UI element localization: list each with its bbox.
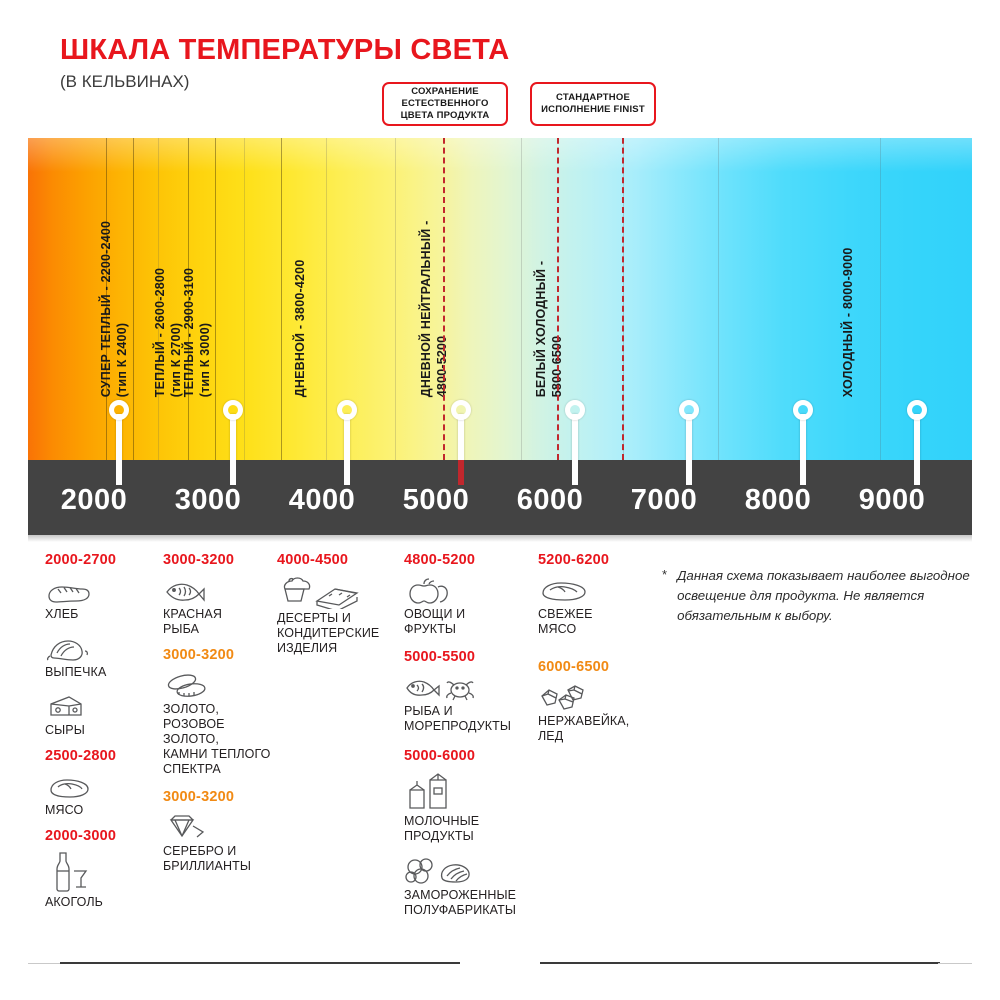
legend-group: 6000-6500 НЕРЖАВЕЙКА, ЛЕД bbox=[538, 659, 658, 744]
scale-label-3000: 3000 bbox=[175, 484, 242, 517]
list-item: СВЕЖЕЕ МЯСО bbox=[538, 573, 658, 637]
callout-finist-standard: СТАНДАРТНОЕ ИСПОЛНЕНИЕ FINIST bbox=[530, 82, 656, 126]
alcohol-icon bbox=[45, 849, 157, 893]
legend-range: 3000-3200 bbox=[163, 789, 283, 805]
scale-label-5000: 5000 bbox=[403, 484, 470, 517]
legend-range: 6000-6500 bbox=[538, 659, 658, 675]
footnote-text: Данная схема показывает наиболее выгодно… bbox=[677, 566, 980, 626]
legend-group: 5000-6000 МОЛОЧНЫЕ ПРОДУКТЫ ЗАМОРОЖЕННЫЕ… bbox=[404, 748, 538, 918]
footnote-star: * bbox=[662, 566, 667, 626]
page-title: ШКАЛА ТЕМПЕРАТУРЫ СВЕТА bbox=[60, 36, 509, 65]
legend-group: 2000-2700 ХЛЕБ ВЫПЕЧКА СЫРЫ bbox=[45, 552, 157, 738]
callout-natural-color: СОХРАНЕНИЕ ЕСТЕСТВЕННОГО ЦВЕТА ПРОДУКТА bbox=[382, 82, 508, 126]
spectrum-gradient bbox=[28, 138, 972, 460]
scale-tick-8000 bbox=[800, 459, 806, 485]
legend-group: 4800-5200 ОВОЩИ И ФРУКТЫ bbox=[404, 552, 538, 637]
legend-item-label: РЫБА И МОРЕПРОДУКТЫ bbox=[404, 704, 538, 734]
list-item: ВЫПЕЧКА bbox=[45, 631, 157, 680]
legend-range: 5000-6000 bbox=[404, 748, 538, 764]
legend-group: 5000-5500 РЫБА И МОРЕПРОДУКТЫ bbox=[404, 649, 538, 734]
footnote: * Данная схема показывает наиболее выгод… bbox=[662, 566, 980, 626]
band-separator bbox=[521, 138, 522, 460]
legend-range: 2500-2800 bbox=[45, 748, 157, 764]
croissant-icon bbox=[45, 631, 157, 663]
band-label-super-warm: СУПЕР ТЕПЛЫЙ - 2200-2400 bbox=[99, 221, 114, 397]
list-item: ЗОЛОТО, РОЗОВОЕ ЗОЛОТО, КАМНИ ТЕПЛОГО СП… bbox=[163, 668, 283, 777]
legend-range: 4800-5200 bbox=[404, 552, 538, 568]
scale-label-7000: 7000 bbox=[631, 484, 698, 517]
bottom-rule-fade-left bbox=[28, 963, 62, 964]
list-item: АКОГОЛЬ bbox=[45, 849, 157, 910]
legend-range: 5000-5500 bbox=[404, 649, 538, 665]
scale-label-6000: 6000 bbox=[517, 484, 584, 517]
diamond-icon bbox=[163, 810, 283, 842]
band-sublabel-super-warm: (тип К 2400) bbox=[115, 323, 130, 397]
scale-tick-3000 bbox=[230, 459, 236, 485]
list-item: РЫБА И МОРЕПРОДУКТЫ bbox=[404, 670, 538, 734]
legend-item-label: ЗАМОРОЖЕННЫЕ ПОЛУФАБРИКАТЫ bbox=[404, 888, 538, 918]
band-label-daylight-neutral: ДНЕВНОЙ НЕЙТРАЛЬНЫЙ - bbox=[419, 221, 434, 398]
list-item: ЗАМОРОЖЕННЫЕ ПОЛУФАБРИКАТЫ bbox=[404, 854, 538, 918]
scale-tick-2000 bbox=[116, 459, 122, 485]
dairy-icon bbox=[404, 772, 538, 812]
legend-item-label: СЫРЫ bbox=[45, 723, 157, 738]
legend-range: 2000-2700 bbox=[45, 552, 157, 568]
list-item: МОЛОЧНЫЕ ПРОДУКТЫ bbox=[404, 772, 538, 844]
band-separator bbox=[244, 138, 245, 460]
spectrum-bar: СУПЕР ТЕПЛЫЙ - 2200-2400 (тип К 2400) ТЕ… bbox=[28, 138, 972, 460]
scale-label-8000: 8000 bbox=[745, 484, 812, 517]
cheese-icon bbox=[45, 689, 157, 721]
band-sublabel-warm-3000: (тип К 3000) bbox=[198, 323, 213, 397]
bottom-rule-left bbox=[60, 962, 460, 964]
band-separator bbox=[215, 138, 216, 460]
dashed-line-4800 bbox=[443, 138, 445, 460]
band-separator bbox=[133, 138, 134, 460]
ice-icon bbox=[538, 680, 658, 712]
band-label-warm-2700: ТЕПЛЫЙ - 2600-2800 bbox=[153, 268, 168, 397]
scale-tick-4000 bbox=[344, 459, 350, 485]
frozen-icon bbox=[404, 854, 538, 886]
list-item: ХЛЕБ bbox=[45, 573, 157, 622]
legend-item-label: ВЫПЕЧКА bbox=[45, 665, 157, 680]
list-item: СЫРЫ bbox=[45, 689, 157, 738]
band-label-white-cold: БЕЛЫЙ ХОЛОДНЫЙ - bbox=[534, 261, 549, 398]
legend-group: 3000-3200 КРАСНАЯ РЫБА bbox=[163, 552, 283, 637]
legend-group: 5200-6200 СВЕЖЕЕ МЯСО bbox=[538, 552, 658, 637]
band-separator bbox=[718, 138, 719, 460]
legend-group: 4000-4500 ДЕСЕРТЫ И КОНДИТЕРСКИЕ ИЗДЕЛИЯ bbox=[277, 552, 395, 656]
legend-range: 3000-3200 bbox=[163, 647, 283, 663]
rings-icon bbox=[163, 668, 283, 700]
band-label-cold: ХОЛОДНЫЙ - 8000-9000 bbox=[841, 247, 856, 397]
scale-tick-6000 bbox=[572, 459, 578, 485]
legend-range: 5200-6200 bbox=[538, 552, 658, 568]
legend-item-label: ХЛЕБ bbox=[45, 607, 157, 622]
seafood-icon bbox=[404, 670, 538, 702]
scale-bar: 2000 3000 4000 5000 6000 7000 8000 9000 bbox=[28, 460, 972, 535]
dashed-line-6500 bbox=[622, 138, 624, 460]
legend-item-label: АКОГОЛЬ bbox=[45, 895, 157, 910]
dashed-line-5800 bbox=[557, 138, 559, 460]
scale-label-9000: 9000 bbox=[859, 484, 926, 517]
legend-item-label: СЕРЕБРО И БРИЛЛИАНТЫ bbox=[163, 844, 283, 874]
red-fish-icon bbox=[163, 573, 283, 605]
legend-column-1: 2000-2700 ХЛЕБ ВЫПЕЧКА СЫРЫ 250 bbox=[45, 552, 157, 919]
list-item: КРАСНАЯ РЫБА bbox=[163, 573, 283, 637]
bottom-rule-right bbox=[540, 962, 940, 964]
legend-column-4: 4800-5200 ОВОЩИ И ФРУКТЫ 5000-5500 РЫБА … bbox=[404, 552, 538, 927]
legend-range: 2000-3000 bbox=[45, 828, 157, 844]
list-item: СЕРЕБРО И БРИЛЛИАНТЫ bbox=[163, 810, 283, 874]
legend-column-3: 4000-4500 ДЕСЕРТЫ И КОНДИТЕРСКИЕ ИЗДЕЛИЯ bbox=[277, 552, 395, 665]
list-item: ОВОЩИ И ФРУКТЫ bbox=[404, 573, 538, 637]
fruits-icon bbox=[404, 573, 538, 605]
legend-range: 4000-4500 bbox=[277, 552, 395, 568]
scale-bar-shadow bbox=[28, 535, 972, 542]
legend-item-label: МЯСО bbox=[45, 803, 157, 818]
legend-column-5: 5200-6200 СВЕЖЕЕ МЯСО 6000-6500 НЕРЖАВЕЙ… bbox=[538, 552, 658, 753]
legend-item-label: МОЛОЧНЫЕ ПРОДУКТЫ bbox=[404, 814, 538, 844]
legend-group: 2000-3000 АКОГОЛЬ bbox=[45, 828, 157, 910]
band-separator bbox=[281, 138, 282, 460]
legend-group: 3000-3200 ЗОЛОТО, РОЗОВОЕ ЗОЛОТО, КАМНИ … bbox=[163, 647, 283, 777]
bread-icon bbox=[45, 573, 157, 605]
scale-tick-5000 bbox=[458, 459, 464, 485]
band-label-daylight: ДНЕВНОЙ - 3800-4200 bbox=[293, 260, 308, 398]
scale-tick-7000 bbox=[686, 459, 692, 485]
list-item: НЕРЖАВЕЙКА, ЛЕД bbox=[538, 680, 658, 744]
band-label-warm-3000: ТЕПЛЫЙ - 2900-3100 bbox=[182, 268, 197, 397]
scale-tick-9000 bbox=[914, 459, 920, 485]
scale-label-2000: 2000 bbox=[61, 484, 128, 517]
legend-item-label: ЗОЛОТО, РОЗОВОЕ ЗОЛОТО, КАМНИ ТЕПЛОГО СП… bbox=[163, 702, 283, 777]
legend-item-label: КРАСНАЯ РЫБА bbox=[163, 607, 283, 637]
legend-group: 3000-3200 СЕРЕБРО И БРИЛЛИАНТЫ bbox=[163, 789, 283, 874]
legend-item-label: СВЕЖЕЕ МЯСО bbox=[538, 607, 658, 637]
band-separator bbox=[880, 138, 881, 460]
scale-label-4000: 4000 bbox=[289, 484, 356, 517]
legend-range: 3000-3200 bbox=[163, 552, 283, 568]
band-separator bbox=[395, 138, 396, 460]
legend-item-label: ДЕСЕРТЫ И КОНДИТЕРСКИЕ ИЗДЕЛИЯ bbox=[277, 611, 395, 656]
legend-item-label: НЕРЖАВЕЙКА, ЛЕД bbox=[538, 714, 658, 744]
band-separator bbox=[326, 138, 327, 460]
bottom-rule-fade-right bbox=[938, 963, 972, 964]
list-item: МЯСО bbox=[45, 769, 157, 818]
fresh-meat-icon bbox=[538, 573, 658, 605]
dessert-icon bbox=[277, 573, 395, 609]
list-item: ДЕСЕРТЫ И КОНДИТЕРСКИЕ ИЗДЕЛИЯ bbox=[277, 573, 395, 656]
legend-item-label: ОВОЩИ И ФРУКТЫ bbox=[404, 607, 538, 637]
meat-icon bbox=[45, 769, 157, 801]
legend-group: 2500-2800 МЯСО bbox=[45, 748, 157, 818]
legend-column-2: 3000-3200 КРАСНАЯ РЫБА 3000-3200 ЗОЛОТО,… bbox=[163, 552, 283, 883]
